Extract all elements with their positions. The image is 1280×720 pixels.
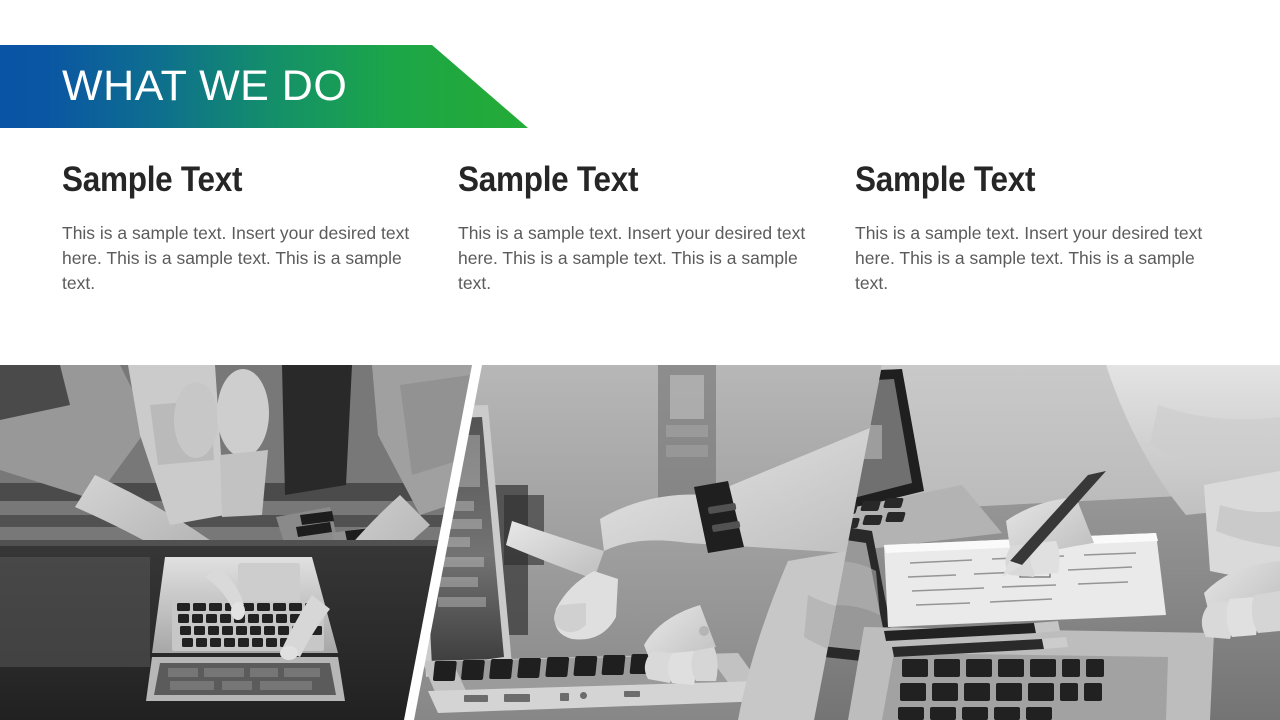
photo-2-artwork <box>408 365 882 720</box>
photo-1-artwork <box>0 365 480 720</box>
page-title: WHAT WE DO <box>0 65 347 108</box>
photo-2 <box>408 365 882 720</box>
column-1-heading: Sample Text <box>62 162 386 199</box>
column-1-body: This is a sample text. Insert your desir… <box>62 221 417 296</box>
column-3-body: This is a sample text. Insert your desir… <box>855 221 1210 296</box>
photo-1 <box>0 365 480 720</box>
header-banner: WHAT WE DO <box>0 45 530 128</box>
column-2-heading: Sample Text <box>458 162 782 199</box>
column-3: Sample Text This is a sample text. Inser… <box>855 162 1215 296</box>
column-3-heading: Sample Text <box>855 162 1179 199</box>
column-2: Sample Text This is a sample text. Inser… <box>458 162 818 296</box>
text-columns: Sample Text This is a sample text. Inser… <box>0 162 1280 362</box>
photo-3-artwork <box>806 365 1280 720</box>
photo-3 <box>806 365 1280 720</box>
column-1: Sample Text This is a sample text. Inser… <box>62 162 422 296</box>
photo-strip <box>0 365 1280 720</box>
column-2-body: This is a sample text. Insert your desir… <box>458 221 813 296</box>
slide-canvas: WHAT WE DO Sample Text This is a sample … <box>0 0 1280 720</box>
